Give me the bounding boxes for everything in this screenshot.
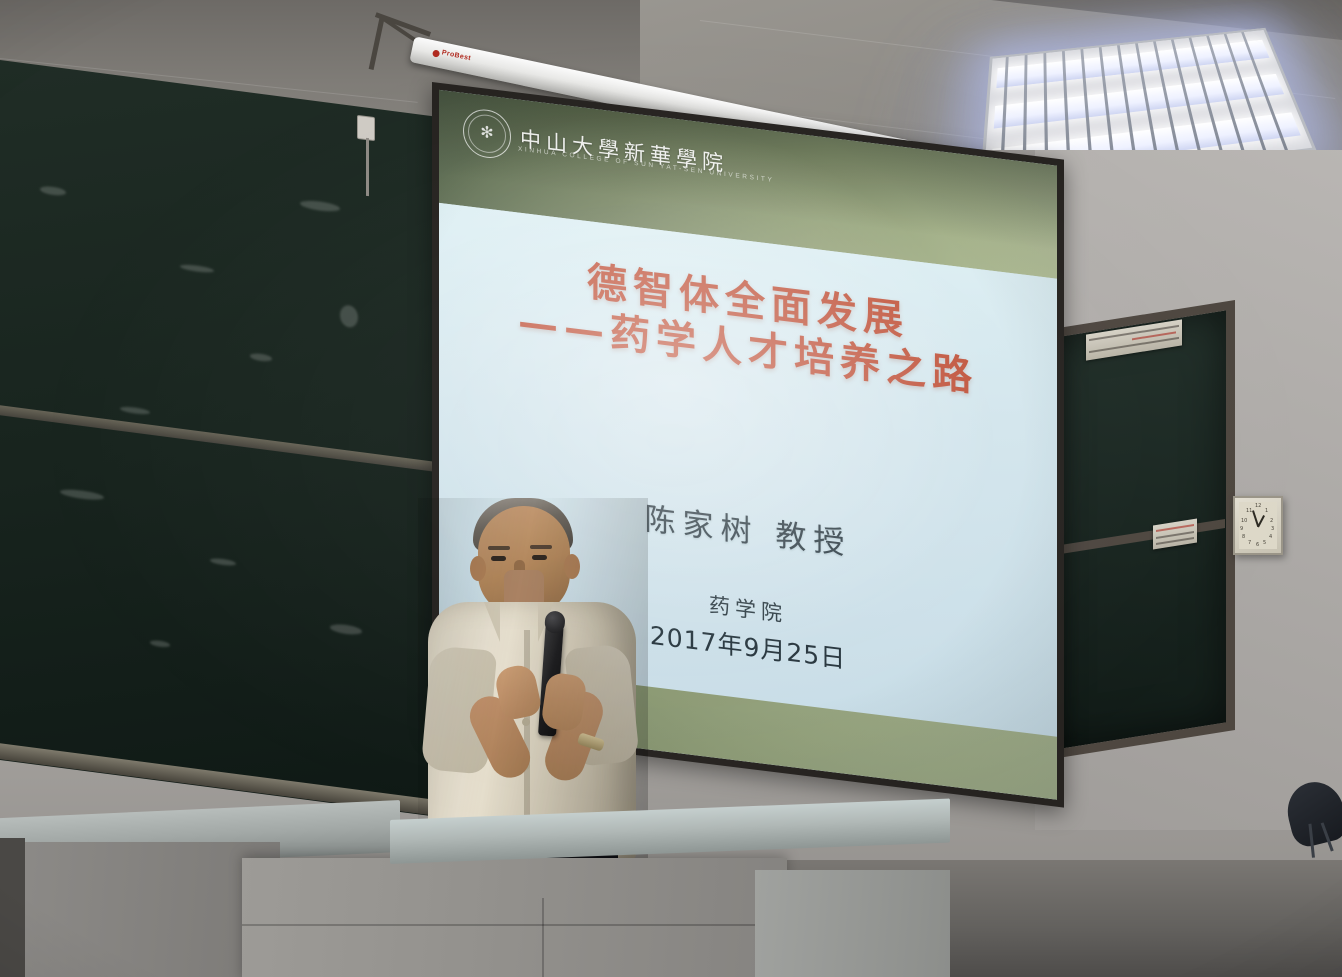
eyebrow-left [488,546,510,550]
clock-minute-hand [1252,510,1259,527]
clock-face: 12 1 2 3 4 5 6 7 8 9 10 11 [1239,502,1277,549]
eyebrow-right [530,545,552,549]
square-wall-clock: 12 1 2 3 4 5 6 7 8 9 10 11 [1233,496,1283,555]
side-desk-shadow [0,838,25,977]
university-seal-icon: ✻ [463,107,511,161]
shirt-button [522,718,530,726]
lecture-hall-scene: 12 1 2 3 4 5 6 7 8 9 10 11 ProBest [0,0,1342,977]
ear-left [470,556,486,581]
ear-right [564,554,580,579]
side-desk-body [0,842,280,977]
roller-brand-label: ProBest [441,49,471,62]
podium-side-panel [755,870,950,977]
eye-right [532,555,547,560]
shirt-placket [524,630,530,838]
microphone-head-icon [544,610,565,633]
presenting-speaker [418,498,648,858]
collar-left [484,602,500,642]
eye-left [491,556,506,561]
wall-conduit [366,138,369,196]
seal-glyph: ✻ [480,125,493,143]
teaching-podium [242,858,787,977]
brand-dot-icon [432,49,440,57]
